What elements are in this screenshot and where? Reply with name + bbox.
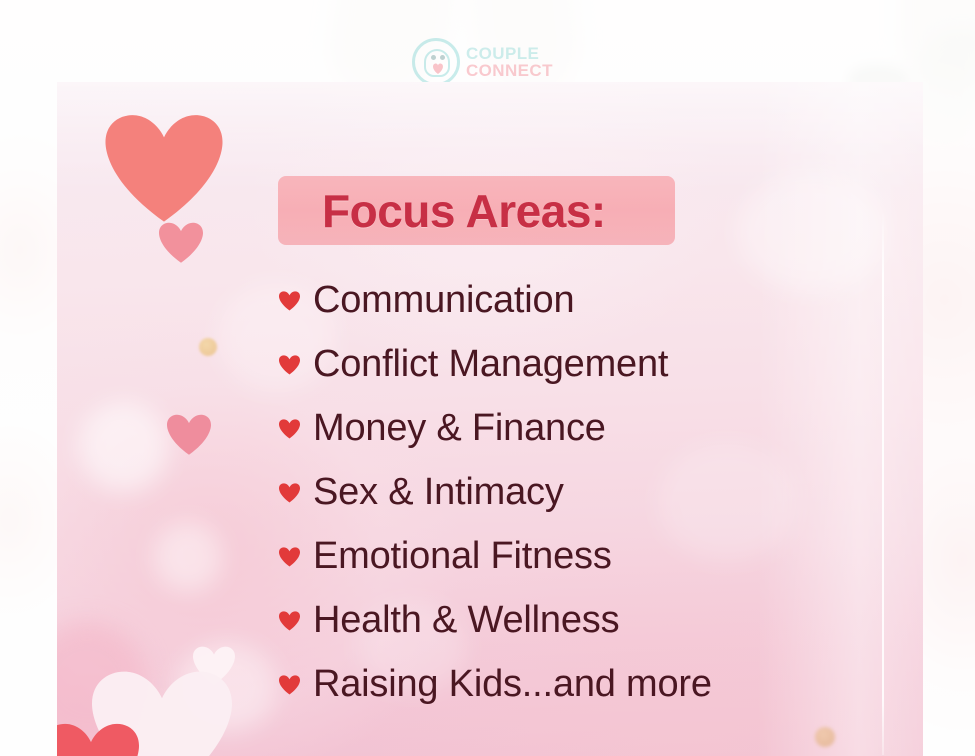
focus-areas-list: Communication Conflict Management Money … bbox=[279, 268, 899, 716]
focus-areas-heading-band: Focus Areas: bbox=[278, 176, 675, 245]
screenshot-canvas: COUPLE CONNECT bbox=[0, 0, 975, 756]
card-content: Focus Areas: Communication Conflict Mana… bbox=[57, 82, 923, 756]
list-item-label: Conflict Management bbox=[313, 345, 668, 383]
list-item-label: Money & Finance bbox=[313, 409, 606, 447]
heart-icon bbox=[279, 483, 300, 503]
list-item: Money & Finance bbox=[279, 396, 899, 460]
heart-icon bbox=[279, 547, 300, 567]
logo-line-2: CONNECT bbox=[466, 62, 553, 79]
list-item: Emotional Fitness bbox=[279, 524, 899, 588]
list-item-label: Emotional Fitness bbox=[313, 537, 612, 575]
heart-icon bbox=[279, 419, 300, 439]
heart-icon bbox=[279, 611, 300, 631]
logo-line-1: COUPLE bbox=[466, 45, 553, 62]
list-item: Health & Wellness bbox=[279, 588, 899, 652]
heart-icon bbox=[279, 291, 300, 311]
focus-areas-card: Focus Areas: Communication Conflict Mana… bbox=[57, 82, 923, 756]
logo-eye-left-icon bbox=[431, 55, 436, 60]
list-item-label: Health & Wellness bbox=[313, 601, 619, 639]
heart-icon bbox=[279, 675, 300, 695]
logo-eye-right-icon bbox=[440, 55, 445, 60]
list-item: Conflict Management bbox=[279, 332, 899, 396]
logo-wordmark: COUPLE CONNECT bbox=[466, 45, 553, 79]
list-item-label: Raising Kids...and more bbox=[313, 665, 712, 703]
list-item-label: Communication bbox=[313, 281, 574, 319]
list-item: Raising Kids...and more bbox=[279, 652, 899, 716]
couple-connect-logo: COUPLE CONNECT bbox=[412, 36, 582, 88]
list-item: Communication bbox=[279, 268, 899, 332]
couple-connect-logo-icon bbox=[412, 38, 460, 86]
list-item-label: Sex & Intimacy bbox=[313, 473, 564, 511]
heart-icon bbox=[279, 355, 300, 375]
page-title: Focus Areas: bbox=[322, 188, 606, 234]
list-item: Sex & Intimacy bbox=[279, 460, 899, 524]
